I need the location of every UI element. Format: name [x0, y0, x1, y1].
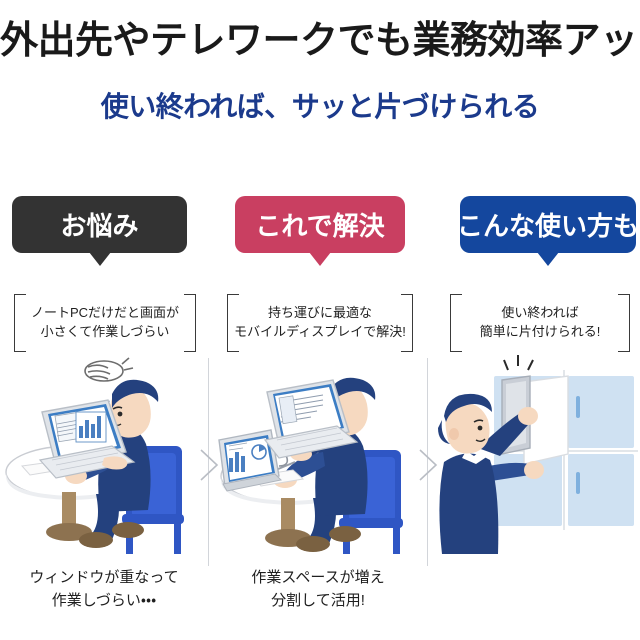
arrow-right-icon: [417, 448, 439, 482]
shoe: [296, 536, 330, 552]
bracket-left-icon: [14, 294, 26, 352]
footer-caption-solution: 作業スペースが増え 分割して活用!: [209, 566, 427, 613]
ear: [449, 428, 459, 440]
caption-usage: 使い終われば 簡単に片付けられる!: [480, 303, 601, 342]
bracket-left-icon: [450, 294, 462, 352]
shoe: [79, 532, 113, 548]
caption-frame-usage: 使い終われば 簡単に片付けられる!: [450, 294, 630, 350]
bracket-right-icon: [401, 294, 413, 352]
cabinet-handle: [576, 396, 580, 418]
badge-usage: こんな使い方も: [460, 196, 636, 253]
illustration-problem: [0, 354, 208, 554]
caption-problem: ノートPCだけだと画面が 小さくて作業しづらい: [31, 303, 179, 342]
hand-upper: [518, 407, 538, 425]
footer-caption-problem: ウィンドウが重なって 作業しづらい・・・: [0, 566, 208, 613]
panel-solution: これで解決 持ち運びに最適な モバイルディスプレイで解決!: [209, 196, 427, 640]
impact-lines-icon: [504, 355, 533, 370]
eye: [118, 412, 123, 417]
bracket-left-icon: [227, 294, 239, 352]
bracket-right-icon: [184, 294, 196, 352]
eye: [478, 426, 483, 431]
badge-usage-label: こんな使い方も: [457, 206, 639, 243]
panel-problem: お悩み ノートPCだけだと画面が 小さくて作業しづらい: [0, 196, 208, 640]
headline-block: 外出先やテレワークでも業務効率アップ 使い終われば、サッと片づけられる: [0, 0, 640, 180]
badge-solution-label: これで解決: [255, 206, 384, 243]
page-title: 外出先やテレワークでも業務効率アップ: [0, 22, 640, 62]
caption-frame-problem: ノートPCだけだと画面が 小さくて作業しづらい: [14, 294, 196, 350]
caption-frame-solution: 持ち運びに最適な モバイルディスプレイで解決!: [227, 294, 413, 350]
page-subtitle: 使い終われば、サッと片づけられる: [0, 92, 640, 121]
frustration-scribble-icon: [85, 358, 133, 381]
badge-solution: これで解決: [235, 196, 405, 253]
arrow-right-icon: [198, 448, 220, 482]
caption-solution: 持ち運びに最適な モバイルディスプレイで解決!: [234, 303, 406, 342]
bracket-right-icon: [618, 294, 630, 352]
badge-problem-label: お悩み: [60, 206, 138, 243]
illustration-solution: [209, 354, 427, 554]
suit-body: [439, 453, 498, 554]
cabinet-handle: [576, 472, 580, 494]
badge-problem: お悩み: [12, 196, 187, 253]
illustration-usage: [428, 354, 640, 554]
hand-lower: [524, 461, 544, 479]
panel-usage: こんな使い方も 使い終われば 簡単に片付けられる!: [428, 196, 640, 640]
